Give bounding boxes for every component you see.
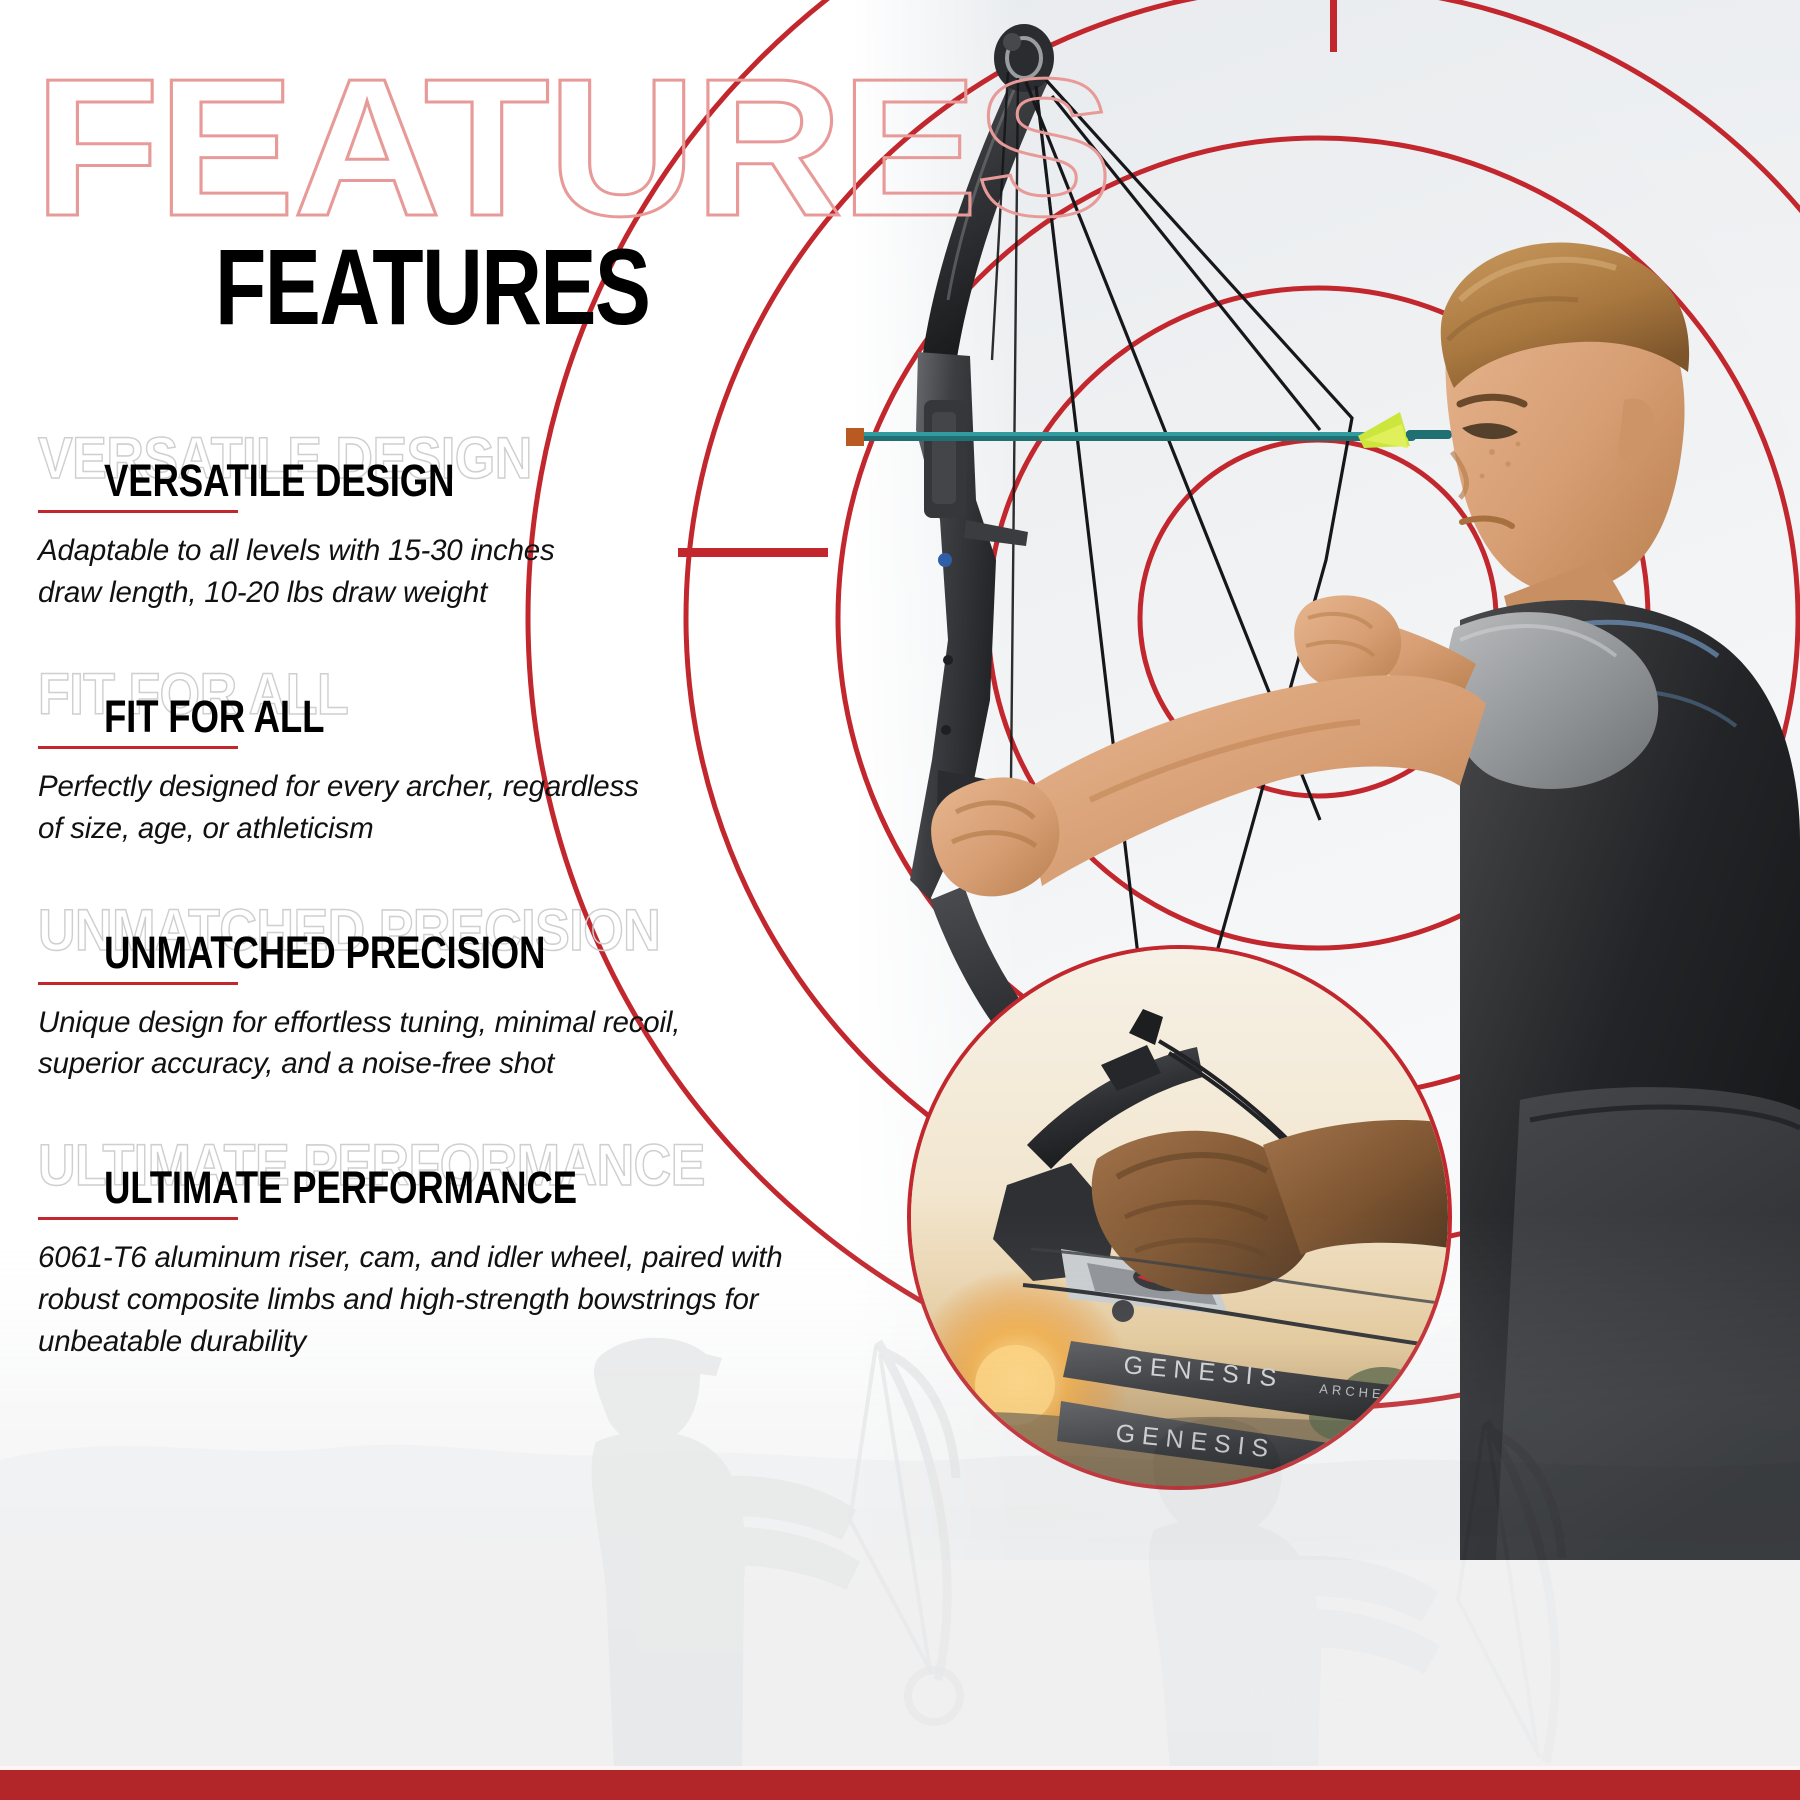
feature-underline-rule [38,746,238,749]
feature-description-line: robust composite limbs and high-strength… [38,1279,898,1321]
svg-text:Hurricane: Hurricane [1250,1682,1345,1707]
feature-description: 6061-T6 aluminum riser, cam, and idler w… [38,1237,898,1363]
infographic-canvas: GENESIS [0,0,1800,1800]
inset-photo-bow-grip: GENESIS ARCHERY GENESIS AR [907,945,1452,1490]
feature-description-line: unbeatable durability [38,1321,898,1363]
page-title-ghost: FEATURES [34,50,1111,246]
feature-list: VERSATILE DESIGN VERSATILE DESIGN Adapta… [38,430,918,1409]
feature-description-line: superior accuracy, and a noise-free shot [38,1043,898,1085]
feature-item-versatile-design: VERSATILE DESIGN VERSATILE DESIGN Adapta… [38,430,918,614]
feature-title: ULTIMATE PERFORMANCE [104,1165,577,1210]
feature-underline-rule [38,510,238,513]
feature-title: FIT FOR ALL [104,694,324,739]
bottom-red-bar [0,1770,1800,1800]
red-accent-bar [678,548,828,557]
red-tick-top [1330,0,1337,52]
feature-heading-row: UNMATCHED PRECISION UNMATCHED PRECISION [38,902,918,988]
feature-title: UNMATCHED PRECISION [104,930,545,975]
page-title-block: FEATURES FEATURES [0,50,1300,320]
feature-title: VERSATILE DESIGN [104,458,454,503]
feature-description-line: of size, age, or athleticism [38,808,898,850]
feature-item-fit-for-all: FIT FOR ALL FIT FOR ALL Perfectly design… [38,666,918,850]
feature-underline-rule [38,982,238,985]
page-title: FEATURES [215,233,649,341]
feature-description: Perfectly designed for every archer, reg… [38,766,898,850]
feature-heading-row: FIT FOR ALL FIT FOR ALL [38,666,918,752]
feature-heading-row: VERSATILE DESIGN VERSATILE DESIGN [38,430,918,516]
feature-heading-row: ULTIMATE PERFORMANCE ULTIMATE PERFORMANC… [38,1137,918,1223]
feature-description: Unique design for effortless tuning, min… [38,1002,898,1086]
feature-item-ultimate-performance: ULTIMATE PERFORMANCE ULTIMATE PERFORMANC… [38,1137,918,1363]
feature-description-line: Perfectly designed for every archer, reg… [38,766,898,808]
feature-description-line: 6061-T6 aluminum riser, cam, and idler w… [38,1237,898,1279]
feature-item-unmatched-precision: UNMATCHED PRECISION UNMATCHED PRECISION … [38,902,918,1086]
feature-description-line: Unique design for effortless tuning, min… [38,1002,898,1044]
feature-underline-rule [38,1217,238,1220]
feature-description-line: draw length, 10-20 lbs draw weight [38,572,898,614]
feature-description: Adaptable to all levels with 15-30 inche… [38,530,898,614]
